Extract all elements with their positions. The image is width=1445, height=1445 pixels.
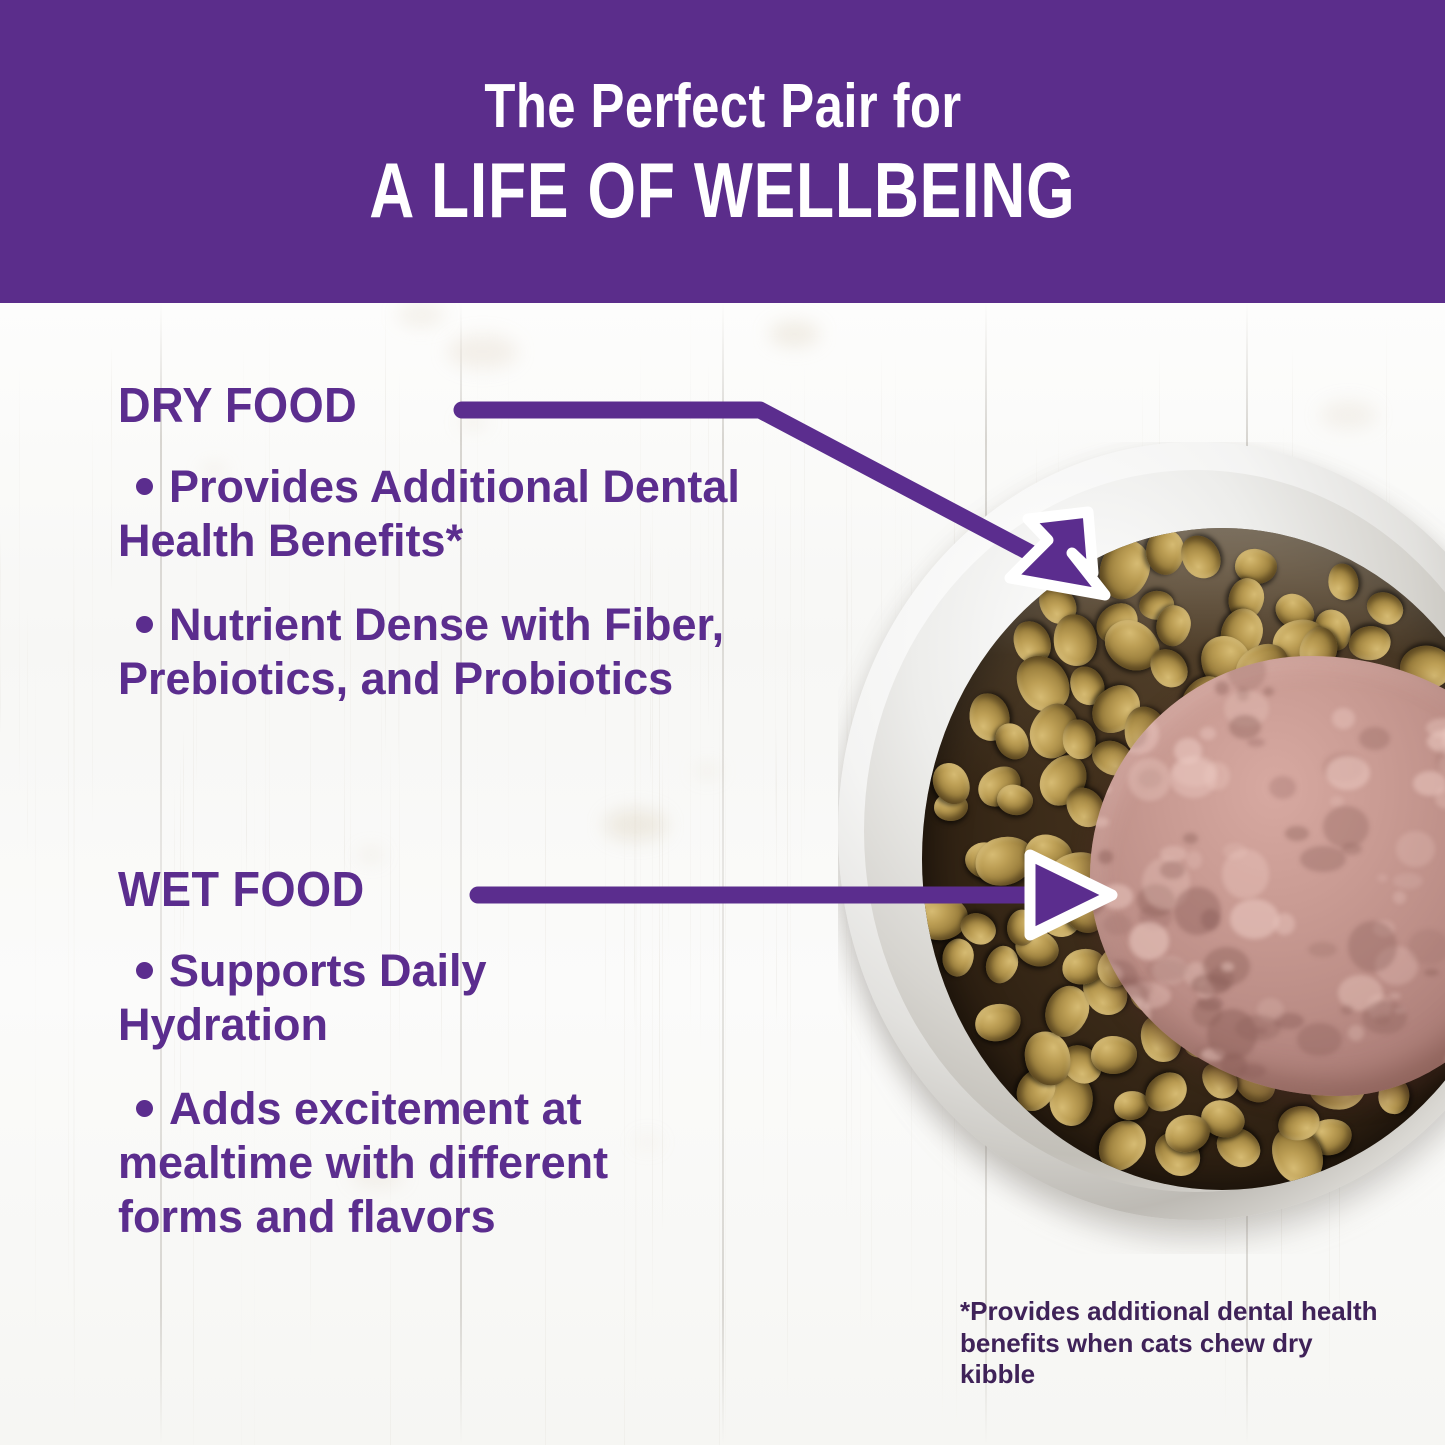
pate-texture (1207, 1009, 1257, 1060)
wood-grain-line (719, 696, 720, 1445)
pate-texture (1239, 1064, 1266, 1077)
pate-texture (1103, 914, 1132, 935)
wood-grain-line (27, 610, 28, 854)
pate-texture (1269, 776, 1296, 799)
dry-food-title: DRY FOOD (118, 378, 725, 434)
pate-texture (1393, 891, 1406, 904)
bullet-text: Adds excitement at mealtime with differe… (118, 1083, 608, 1242)
pate-texture (1359, 727, 1390, 750)
header-title: A LIFE OF WELLBEING (369, 151, 1075, 229)
callout-wet-food: WET FOOD Supports Daily Hydration Adds e… (118, 862, 698, 1274)
list-item: Provides Additional Dental Health Benefi… (118, 460, 758, 568)
wood-grain-line (0, 532, 1, 735)
wood-grain-line (776, 724, 777, 1026)
pate-texture (1145, 959, 1189, 981)
pate-texture (1098, 850, 1113, 865)
pate-texture (1104, 686, 1126, 708)
wood-grain-line (787, 620, 788, 1401)
wood-grain-line (111, 344, 112, 592)
pate-texture (1377, 874, 1388, 882)
wood-blotch (447, 334, 518, 369)
pate-texture (1308, 942, 1337, 957)
pate-texture (1108, 998, 1136, 1021)
wood-grain-line (725, 744, 726, 1445)
list-item: Adds excitement at mealtime with differe… (118, 1082, 658, 1244)
pate-texture (1142, 685, 1173, 704)
wood-grain-line (790, 379, 791, 1120)
dry-kibble-piece (1089, 1112, 1155, 1180)
wood-grain-line (804, 364, 805, 837)
pate-texture (1183, 833, 1198, 844)
wood-grain-line (73, 476, 74, 1360)
pate-texture (1221, 962, 1234, 972)
food-bowl-photo (838, 442, 1445, 1254)
bullet-text: Nutrient Dense with Fiber, Prebiotics, a… (118, 599, 724, 704)
header-subtitle: The Perfect Pair for (484, 74, 961, 139)
bullet-dot-icon (136, 478, 153, 495)
wood-grain-line (92, 418, 93, 825)
bullet-dot-icon (136, 962, 153, 979)
pate-texture (1147, 1053, 1174, 1076)
bowl-rim-inner (864, 470, 1445, 1192)
infographic-page: The Perfect Pair for A LIFE OF WELLBEING… (0, 0, 1445, 1445)
pate-texture (1200, 727, 1215, 740)
pate-texture (1100, 671, 1118, 684)
pate-texture (1297, 1023, 1341, 1055)
wood-blotch (359, 849, 383, 861)
wood-blotch (694, 764, 721, 778)
pate-texture (1348, 1025, 1364, 1041)
wet-food-bullets: Supports Daily Hydration Adds excitement… (118, 944, 698, 1244)
pate-texture (1394, 1007, 1406, 1014)
pate-texture (1247, 738, 1265, 747)
pate-texture (1332, 708, 1355, 728)
footnote-text: *Provides additional dental health benef… (960, 1296, 1380, 1391)
pate-texture (1229, 715, 1261, 739)
wood-grain-line (19, 364, 20, 792)
bullet-text: Provides Additional Dental Health Benefi… (118, 461, 740, 566)
pate-texture (1348, 921, 1397, 972)
pate-texture (1323, 806, 1368, 848)
dry-kibble-piece (972, 999, 1025, 1045)
pate-texture (1160, 846, 1186, 862)
wood-blotch (397, 303, 445, 327)
pate-texture (1129, 922, 1168, 961)
bullet-dot-icon (136, 1100, 153, 1117)
pate-texture (1091, 817, 1109, 828)
pate-texture (1408, 929, 1445, 964)
pate-texture (1215, 681, 1229, 695)
pate-texture (1186, 851, 1203, 869)
pate-texture (1160, 861, 1184, 879)
callout-dry-food: DRY FOOD Provides Additional Dental Heal… (118, 378, 778, 736)
pate-texture (1326, 756, 1370, 790)
list-item: Supports Daily Hydration (118, 944, 638, 1052)
dry-kibble-piece (939, 936, 976, 978)
wet-food-title: WET FOOD (118, 862, 652, 918)
pate-texture (1201, 909, 1220, 929)
pate-texture (1101, 786, 1111, 793)
pate-texture (1413, 771, 1445, 796)
wood-blotch (1320, 401, 1377, 429)
pate-texture (1396, 831, 1434, 867)
pate-texture (1178, 676, 1194, 686)
header-banner: The Perfect Pair for A LIFE OF WELLBEING (0, 0, 1445, 303)
wood-grain-line (68, 643, 69, 1296)
pate-texture (1300, 846, 1346, 872)
pate-texture (1100, 884, 1133, 909)
pate-texture (1116, 719, 1147, 748)
dry-kibble-piece (1146, 528, 1184, 574)
bullet-dot-icon (136, 616, 153, 633)
pate-texture (1227, 656, 1266, 691)
pate-texture (1263, 687, 1273, 696)
pate-texture (1223, 843, 1247, 858)
pate-texture (1375, 1014, 1390, 1025)
pate-texture (1389, 993, 1402, 1000)
pate-texture (1128, 758, 1171, 801)
wet-pate (1090, 656, 1445, 1096)
pate-texture (1424, 969, 1439, 977)
bullet-text: Supports Daily Hydration (118, 945, 487, 1050)
wood-grain-line (801, 464, 802, 914)
pate-texture (1191, 974, 1230, 995)
pate-texture (1127, 1050, 1150, 1075)
pate-texture (1230, 899, 1279, 938)
wood-grain-line (74, 536, 75, 1429)
dry-food-bullets: Provides Additional Dental Health Benefi… (118, 460, 778, 706)
pate-texture (1393, 873, 1423, 889)
wood-blotch (769, 321, 820, 347)
wood-blotch (604, 809, 667, 841)
pate-texture (1170, 758, 1218, 798)
pate-texture (1341, 1005, 1353, 1014)
pate-texture (1285, 826, 1309, 840)
list-item: Nutrient Dense with Fiber, Prebiotics, a… (118, 598, 758, 706)
wood-grain-line (35, 656, 36, 1344)
bowl-interior (922, 528, 1445, 1190)
